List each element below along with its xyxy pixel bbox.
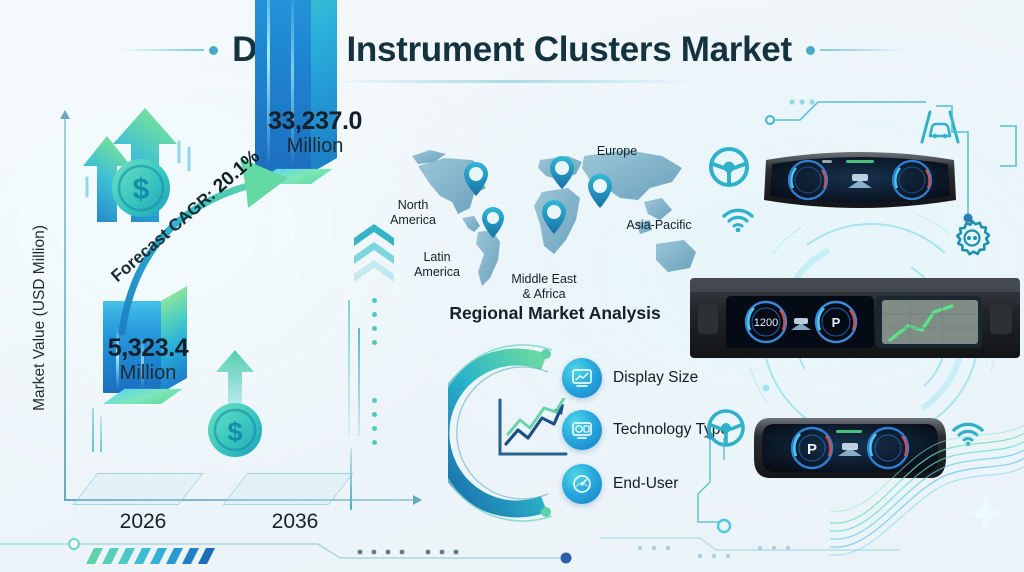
map-label-line: North — [372, 198, 454, 213]
map-label-line: Latin — [398, 250, 476, 265]
chart-y-axis — [64, 118, 66, 500]
title-bar: Digital Instrument Clusters Market — [0, 22, 1024, 78]
circuit-line-decoration — [0, 534, 1024, 572]
map-label-line: America — [398, 265, 476, 280]
svg-text:$: $ — [227, 417, 242, 447]
map-label-line: Middle East — [498, 272, 590, 287]
map-label-line: America — [372, 213, 454, 228]
segment-label: Display Size — [613, 369, 698, 387]
dot-decoration — [372, 398, 377, 454]
chart-y-axis-label: Market Value (USD Million) — [26, 168, 54, 468]
y-axis-label-text: Market Value (USD Million) — [31, 225, 49, 411]
map-label-middle-east-africa: Middle East & Africa — [498, 272, 590, 302]
dot-decoration — [372, 298, 377, 354]
line-decoration — [92, 408, 94, 452]
segment-label: End-User — [613, 475, 678, 493]
circuit-line-decoration — [690, 430, 830, 550]
title-underline-glow — [330, 80, 694, 83]
monitor-display-icon — [562, 358, 602, 398]
x-tick-2026: 2026 — [88, 510, 198, 534]
title-right-accent — [806, 46, 906, 55]
map-label-line: & Africa — [498, 287, 590, 302]
bar-2026-unit: Million — [68, 362, 228, 385]
map-label-europe: Europe — [580, 144, 654, 159]
line-decoration — [100, 416, 102, 452]
x-tick-2036: 2036 — [240, 510, 350, 534]
segment-item-display-size[interactable]: Display Size — [562, 358, 698, 398]
gear-readout: P — [832, 315, 841, 330]
line-decoration — [350, 448, 352, 510]
segment-item-end-user[interactable]: End-User — [562, 464, 678, 504]
map-label-asia-pacific: Asia-Pacific — [610, 218, 708, 233]
speed-readout: 1200 — [754, 317, 778, 329]
map-section-title: Regional Market Analysis — [420, 303, 690, 324]
map-label-latin-america: Latin America — [398, 250, 476, 280]
bar-2026-value: 5,323.4 — [68, 335, 228, 362]
dashboard-screen-icon — [562, 410, 602, 450]
speedometer-icon — [562, 464, 602, 504]
line-decoration — [348, 300, 350, 435]
line-decoration — [358, 328, 360, 436]
car-dashboard-with-navigation-image: 1200 P — [690, 278, 1020, 358]
dollar-coin-icon: $ — [205, 400, 265, 460]
dollar-coin-up-arrows-icon: $ — [75, 104, 205, 226]
line-growth-chart-icon — [496, 398, 570, 462]
svg-text:$: $ — [133, 173, 150, 206]
circuit-line-decoration — [700, 96, 1024, 286]
title-left-accent — [118, 46, 218, 55]
map-label-north-america: North America — [372, 198, 454, 228]
bar-2036-value: 33,237.0 — [222, 108, 408, 135]
bar-2026-value-label: 5,323.4 Million — [68, 335, 228, 385]
infographic-canvas: Digital Instrument Clusters Market Marke… — [0, 0, 1024, 572]
